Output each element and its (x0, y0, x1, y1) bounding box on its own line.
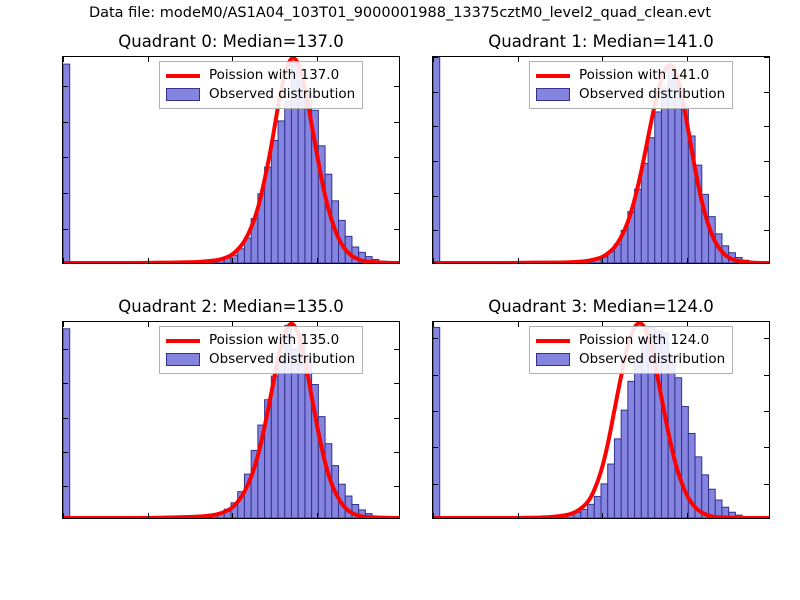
y-tickmark (394, 229, 399, 230)
y-tickmark (394, 383, 399, 384)
legend-entry: Observed distribution (166, 85, 355, 104)
y-tickmark (764, 338, 769, 339)
x-tickmark (148, 57, 149, 62)
y-tick-label: 300 (62, 410, 63, 426)
x-tick-label: 200 (388, 518, 400, 519)
subplot-title-2: Quadrant 2: Median=135.0 (62, 297, 400, 316)
plot-area-2: 0100200300400500050100150200Poission wit… (62, 321, 400, 519)
histogram-bar (682, 407, 689, 518)
x-tick-label: 150 (674, 263, 700, 264)
y-tickmark (63, 157, 68, 158)
x-tick-label: 0 (62, 518, 67, 519)
legend-2[interactable]: Poission with 135.0Observed distribution (159, 326, 363, 374)
x-tick-label: 200 (758, 263, 770, 264)
histogram-bar (63, 329, 70, 518)
y-tick-label: 400 (62, 114, 63, 130)
y-tickmark (394, 349, 399, 350)
y-tickmark (764, 196, 769, 197)
y-tick-label: 400 (62, 375, 63, 391)
legend-label: Poission with 135.0 (209, 334, 339, 348)
subplot-quadrant-1: Quadrant 1: Median=141.00100200300400500… (432, 30, 770, 288)
legend-label: Observed distribution (579, 88, 725, 102)
x-tick-label: 0 (62, 263, 67, 264)
y-tick-label: 300 (432, 403, 433, 419)
y-tickmark (394, 452, 399, 453)
y-tickmark (764, 57, 769, 58)
histogram-bar (298, 82, 305, 263)
legend-label: Poission with 124.0 (579, 334, 709, 348)
legend-patch-icon (166, 88, 200, 101)
histogram-bar (291, 349, 298, 518)
y-tick-label: 100 (432, 476, 433, 492)
figure-title: Data file: modeM0/AS1A04_103T01_90000019… (0, 5, 800, 21)
y-tickmark (433, 230, 438, 231)
y-tick-label: 300 (62, 149, 63, 165)
y-tickmark (63, 122, 68, 123)
y-tickmark (433, 375, 438, 376)
histogram-bar (661, 88, 668, 263)
x-tick-label: 100 (589, 518, 615, 519)
x-tick-label: 100 (219, 263, 245, 264)
legend-line-icon (536, 334, 570, 348)
plot-area-3: 0100200300400500050100150200Poission wit… (432, 321, 770, 519)
x-tick-label: 150 (304, 518, 330, 519)
histogram-bar (594, 496, 601, 518)
y-tick-label: 200 (432, 188, 433, 204)
y-tick-label: 500 (62, 341, 63, 357)
x-tick-label: 200 (758, 518, 770, 519)
x-tick-label: 200 (388, 263, 400, 264)
legend-label: Observed distribution (579, 353, 725, 367)
y-tickmark (764, 447, 769, 448)
y-tickmark (764, 484, 769, 485)
histogram-bar (628, 381, 635, 518)
legend-entry: Observed distribution (536, 350, 725, 369)
x-tickmark (63, 57, 64, 62)
legend-entry: Poission with 124.0 (536, 331, 725, 350)
y-tickmark (394, 86, 399, 87)
x-tick-label: 50 (139, 263, 156, 264)
x-tick-label: 50 (509, 518, 526, 519)
legend-line-icon (166, 69, 200, 83)
y-tickmark (63, 418, 68, 419)
legend-0[interactable]: Poission with 137.0Observed distribution (159, 61, 363, 109)
histogram-bar (63, 64, 70, 263)
subplot-title-1: Quadrant 1: Median=141.0 (432, 32, 770, 51)
y-tickmark (764, 126, 769, 127)
x-tick-label: 150 (304, 263, 330, 264)
histogram-bar (709, 489, 716, 518)
x-tick-label: 0 (432, 263, 437, 264)
y-tickmark (764, 230, 769, 231)
legend-patch-icon (536, 88, 570, 101)
histogram-bar (285, 101, 292, 263)
legend-entry: Observed distribution (536, 85, 725, 104)
y-tickmark (394, 193, 399, 194)
histogram-bar (621, 410, 628, 518)
subplot-quadrant-3: Quadrant 3: Median=124.00100200300400500… (432, 295, 770, 543)
figure-root: Data file: modeM0/AS1A04_103T01_90000019… (0, 0, 800, 600)
histogram-bar (614, 439, 621, 518)
x-tickmark (518, 322, 519, 327)
y-tickmark (433, 126, 438, 127)
y-tickmark (394, 418, 399, 419)
histogram-bar (278, 356, 285, 518)
legend-patch-icon (166, 353, 200, 366)
histogram-bar (648, 138, 655, 263)
x-tickmark (518, 57, 519, 62)
subplot-quadrant-0: Quadrant 0: Median=137.00100200300400500… (62, 30, 400, 288)
x-tick-label: 50 (139, 518, 156, 519)
y-tick-label: 100 (432, 222, 433, 238)
x-tick-label: 150 (674, 518, 700, 519)
legend-3[interactable]: Poission with 124.0Observed distribution (529, 326, 733, 374)
y-tickmark (433, 196, 438, 197)
y-tickmark (433, 484, 438, 485)
legend-label: Observed distribution (209, 353, 355, 367)
y-tickmark (63, 452, 68, 453)
histogram-bar (433, 327, 440, 518)
y-tick-label: 500 (432, 330, 433, 346)
legend-label: Poission with 137.0 (209, 69, 339, 83)
y-tickmark (433, 161, 438, 162)
y-tickmark (63, 383, 68, 384)
x-tickmark (148, 322, 149, 327)
y-tick-label: 400 (432, 118, 433, 134)
legend-line-icon (166, 334, 200, 348)
y-tickmark (63, 349, 68, 350)
y-tickmark (764, 92, 769, 93)
legend-label: Poission with 141.0 (579, 69, 709, 83)
histogram-bar (608, 464, 615, 518)
histogram-bar (271, 140, 278, 263)
legend-label: Observed distribution (209, 88, 355, 102)
legend-patch-icon (536, 353, 570, 366)
histogram-bar (581, 509, 588, 518)
y-tickmark (63, 229, 68, 230)
y-tickmark (394, 486, 399, 487)
y-tick-label: 200 (432, 439, 433, 455)
y-tick-label: 100 (62, 478, 63, 494)
y-tickmark (764, 161, 769, 162)
x-tick-label: 0 (432, 518, 437, 519)
histogram-bar (433, 57, 440, 263)
histogram-bar (588, 504, 595, 518)
x-tick-label: 100 (219, 518, 245, 519)
x-tick-label: 100 (589, 263, 615, 264)
y-tickmark (394, 122, 399, 123)
y-tick-label: 200 (62, 185, 63, 201)
y-tick-label: 500 (432, 84, 433, 100)
plot-area-0: 0100200300400500050100150200Poission wit… (62, 56, 400, 264)
subplot-title-3: Quadrant 3: Median=124.0 (432, 297, 770, 316)
y-tickmark (764, 411, 769, 412)
histogram-bar (675, 84, 682, 263)
legend-entry: Observed distribution (166, 350, 355, 369)
y-tickmark (394, 157, 399, 158)
histogram-bar (641, 163, 648, 263)
y-tickmark (433, 447, 438, 448)
x-tickmark (433, 57, 434, 62)
y-tick-label: 100 (62, 221, 63, 237)
y-tickmark (433, 411, 438, 412)
subplot-title-0: Quadrant 0: Median=137.0 (62, 32, 400, 51)
legend-line-icon (536, 69, 570, 83)
x-tickmark (63, 322, 64, 327)
y-tickmark (63, 486, 68, 487)
y-tickmark (63, 193, 68, 194)
y-tick-label: 500 (62, 78, 63, 94)
y-tick-label: 300 (432, 153, 433, 169)
legend-entry: Poission with 137.0 (166, 66, 355, 85)
plot-area-1: 0100200300400500600050100150200Poission … (432, 56, 770, 264)
subplot-quadrant-2: Quadrant 2: Median=135.00100200300400500… (62, 295, 400, 543)
histogram-bar (675, 378, 682, 518)
y-tickmark (433, 92, 438, 93)
legend-entry: Poission with 141.0 (536, 66, 725, 85)
y-tick-label: 400 (432, 367, 433, 383)
y-tickmark (63, 86, 68, 87)
histogram-bar (635, 358, 642, 518)
x-tickmark (433, 322, 434, 327)
x-tick-label: 50 (509, 263, 526, 264)
legend-entry: Poission with 135.0 (166, 331, 355, 350)
y-tickmark (433, 338, 438, 339)
y-tick-label: 200 (62, 444, 63, 460)
histogram-bar (655, 112, 662, 263)
y-tickmark (764, 375, 769, 376)
histogram-bar (278, 121, 285, 263)
legend-1[interactable]: Poission with 141.0Observed distribution (529, 61, 733, 109)
